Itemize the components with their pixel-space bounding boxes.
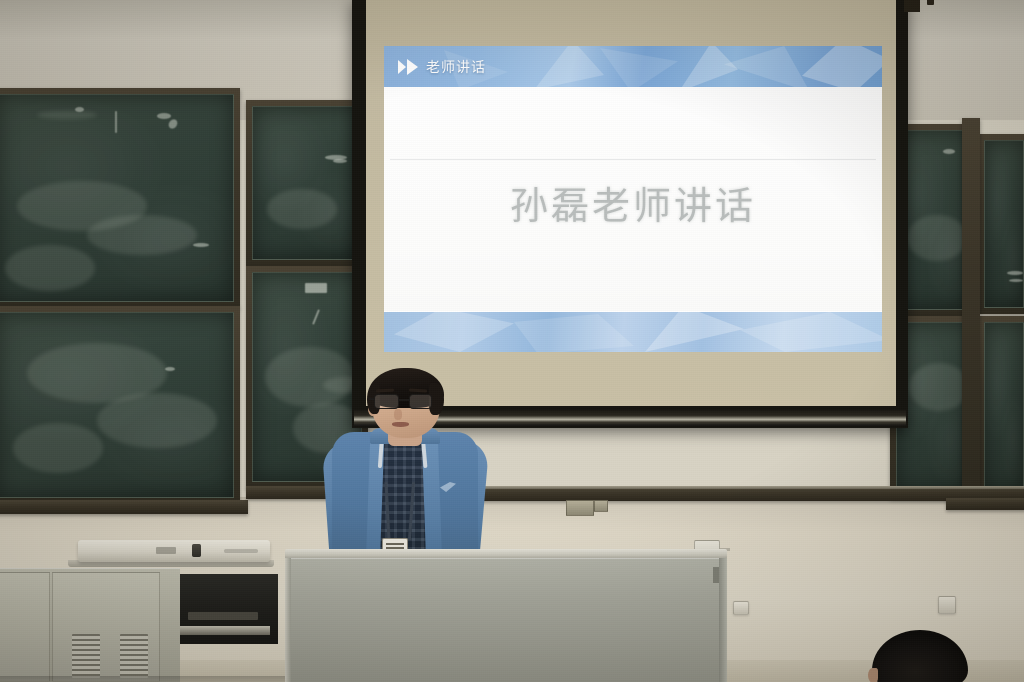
chalkboard-divider-post bbox=[962, 118, 980, 504]
slide-body: 孙磊老师讲话 bbox=[384, 87, 882, 311]
podium-front-panel bbox=[287, 558, 725, 682]
podium-edge-left bbox=[285, 558, 291, 682]
cabinet-bay-shelf bbox=[178, 626, 270, 635]
chalkboard-surface bbox=[0, 312, 234, 498]
presenter-nose bbox=[394, 409, 402, 420]
eyeglass-lens-left bbox=[374, 394, 399, 409]
eyeglasses-icon bbox=[372, 394, 440, 410]
projection-screen-assembly: 老师讲话 孙磊老师讲话 bbox=[352, 0, 908, 428]
chalk-ledge-main bbox=[440, 487, 1024, 501]
screen-mount-bracket bbox=[904, 0, 920, 12]
chalkboard-surface bbox=[252, 106, 362, 260]
audience-ear bbox=[868, 668, 878, 682]
cabinet-vent-left bbox=[72, 634, 100, 678]
equipment-cabinet bbox=[0, 540, 288, 682]
projection-screen-surface: 老师讲话 孙磊老师讲话 bbox=[366, 0, 896, 406]
console-label-plate bbox=[156, 547, 176, 554]
slide-header-bar: 老师讲话 bbox=[384, 46, 882, 87]
cabinet-door-left[interactable] bbox=[0, 572, 50, 682]
presenter-speaker bbox=[316, 370, 496, 570]
slide-footer-bar bbox=[384, 312, 882, 352]
chalkboard-surface bbox=[984, 322, 1024, 492]
lecture-podium bbox=[285, 549, 727, 682]
play-arrow-logo-icon bbox=[397, 56, 419, 77]
chalk-ledge-bracket-secondary bbox=[594, 500, 608, 512]
audience-hair bbox=[872, 630, 968, 682]
wall-socket-left bbox=[733, 601, 749, 615]
podium-edge-right bbox=[719, 558, 727, 682]
console-slot bbox=[224, 549, 258, 553]
console-switch[interactable] bbox=[192, 544, 201, 557]
chalk-ledge-bracket bbox=[566, 500, 594, 516]
cabinet-shadow bbox=[0, 676, 288, 682]
chalkboard-far-right-lower bbox=[978, 316, 1024, 498]
chalkboard-left-lower bbox=[0, 306, 240, 504]
slide-main-title: 孙磊老师讲话 bbox=[384, 175, 882, 230]
presenter-mouth bbox=[392, 422, 409, 427]
chalkboard-center-upper bbox=[246, 100, 368, 266]
chalkboard-far-right-upper bbox=[978, 134, 1024, 314]
eyeglass-lens-right bbox=[409, 394, 432, 409]
lecture-hall-photo: 老师讲话 孙磊老师讲话 bbox=[0, 0, 1024, 682]
chalkboard-left-upper bbox=[0, 88, 240, 308]
chalk-ledge-far-right bbox=[946, 498, 1024, 510]
audience-member-head bbox=[872, 630, 968, 682]
chalkboard-surface bbox=[0, 94, 234, 302]
slide-header-title: 老师讲话 bbox=[426, 57, 486, 77]
slide-hairline bbox=[390, 159, 876, 160]
eyeglass-bridge bbox=[399, 399, 409, 401]
cabinet-bay-device bbox=[188, 612, 258, 620]
screen-mount-screw bbox=[927, 0, 934, 5]
podium-bracket bbox=[713, 567, 719, 583]
chalkboard-surface bbox=[984, 140, 1024, 308]
chalk-ledge-lip bbox=[440, 486, 1024, 489]
cabinet-vent-right bbox=[120, 634, 148, 678]
presentation-slide: 老师讲话 孙磊老师讲话 bbox=[384, 46, 882, 352]
chalk-ledge-left bbox=[0, 500, 248, 514]
wall-socket-right bbox=[938, 596, 956, 614]
